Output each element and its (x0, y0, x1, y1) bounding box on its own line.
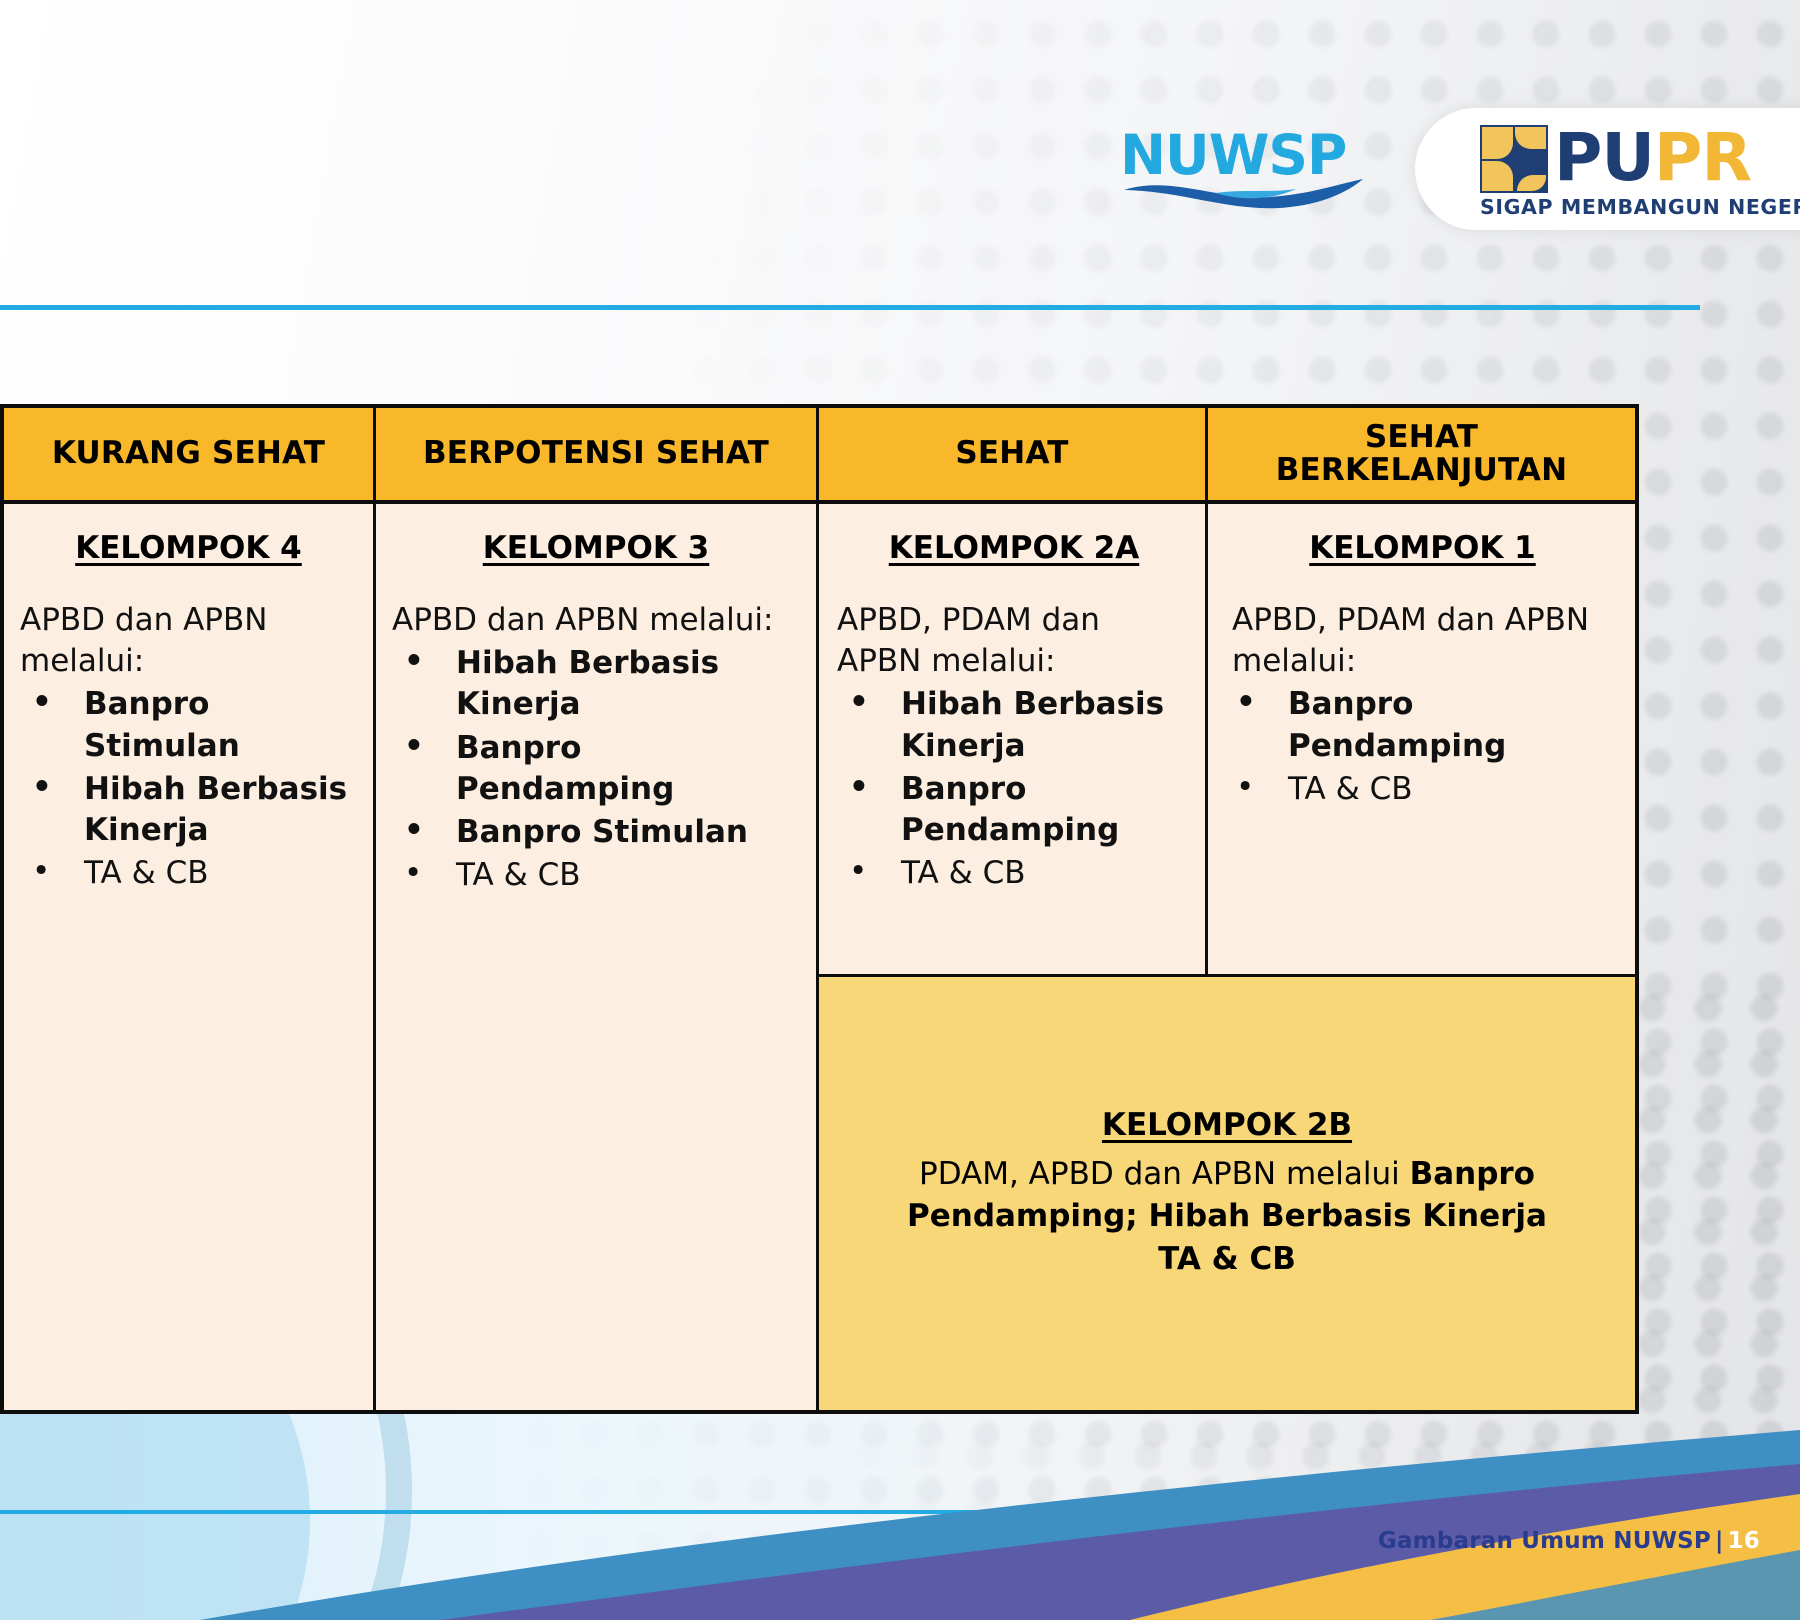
nuwsp-logo: NUWSP (1120, 128, 1370, 218)
list-item: TA & CB (837, 853, 1191, 894)
kelompok-4-intro: APBD dan APBN melalui: (20, 600, 357, 682)
health-category-table: KURANG SEHAT BERPOTENSI SEHAT SEHAT SEHA… (0, 404, 1639, 1414)
kelompok-1-intro: APBD, PDAM dan APBN melalui: (1224, 600, 1621, 682)
kelompok-2b-title: KELOMPOK 2B (1102, 1107, 1352, 1143)
list-item: Banpro Pendamping (837, 769, 1191, 851)
table-right-section: KELOMPOK 2A APBD, PDAM dan APBN melalui:… (819, 504, 1635, 1410)
pupr-emblem-icon (1480, 125, 1548, 193)
pupr-tagline: SIGAP MEMBANGUN NEGERI (1480, 195, 1800, 219)
pupr-wordmark-pu: PU (1554, 119, 1654, 196)
footer-wave-svg (0, 1430, 1800, 1620)
list-item: Hibah Berbasis Kinerja (837, 684, 1191, 766)
kelompok-1-bullet-list: Banpro Pendamping TA & CB (1224, 684, 1621, 810)
footer-decorative-waves (0, 1430, 1800, 1620)
kelompok-1-title: KELOMPOK 1 (1224, 530, 1621, 566)
table-body: KELOMPOK 4 APBD dan APBN melalui: Banpro… (4, 504, 1635, 1410)
pupr-logo: PUPR SIGAP MEMBANGUN NEGERI (1480, 125, 1800, 221)
table-cell-kelompok-3: KELOMPOK 3 APBD dan APBN melalui: Hibah … (376, 504, 819, 1410)
footer-label: Gambaran Umum NUWSP (1378, 1528, 1711, 1554)
kelompok-2a-intro: APBD, PDAM dan APBN melalui: (837, 600, 1191, 682)
page-number: 16 (1728, 1528, 1760, 1554)
footer-separator: | (1711, 1528, 1728, 1554)
pupr-wordmark-pr: PR (1654, 119, 1751, 196)
kelompok-2b-line-3: TA & CB (1158, 1238, 1296, 1280)
table-cell-kelompok-2b: KELOMPOK 2B PDAM, APBD dan APBN melalui … (819, 974, 1635, 1410)
list-item: Hibah Berbasis Kinerja (20, 769, 357, 851)
list-item: TA & CB (20, 853, 357, 894)
kelompok-2b-line-1: PDAM, APBD dan APBN melalui Banpro (919, 1153, 1535, 1195)
table-cell-kelompok-4: KELOMPOK 4 APBD dan APBN melalui: Banpro… (4, 504, 376, 1410)
kelompok-3-bullet-list: Hibah Berbasis Kinerja Banpro Pendamping… (392, 643, 800, 896)
kelompok-4-title: KELOMPOK 4 (20, 530, 357, 566)
list-item: Banpro Pendamping (392, 728, 800, 810)
list-item: Banpro Stimulan (392, 812, 800, 853)
kelompok-3-intro: APBD dan APBN melalui: (392, 600, 800, 641)
pupr-wordmark: PUPR (1554, 125, 1751, 191)
table-header-sehat: SEHAT (819, 408, 1208, 500)
list-item: Banpro Pendamping (1224, 684, 1621, 766)
list-item: Banpro Stimulan (20, 684, 357, 766)
footer-caption: Gambaran Umum NUWSP|16 (1378, 1528, 1760, 1554)
table-header-row: KURANG SEHAT BERPOTENSI SEHAT SEHAT SEHA… (4, 408, 1635, 504)
nuwsp-wordmark: NUWSP (1120, 128, 1370, 183)
kelompok-2b-line-1-bold: Banpro (1410, 1156, 1535, 1192)
kelompok-2a-title: KELOMPOK 2A (837, 530, 1191, 566)
kelompok-2b-line-1-plain: PDAM, APBD dan APBN melalui (919, 1156, 1410, 1192)
table-header-sehat-berkelanjutan: SEHAT BERKELANJUTAN (1208, 408, 1635, 500)
kelompok-2b-line-2: Pendamping; Hibah Berbasis Kinerja (907, 1195, 1547, 1237)
list-item: TA & CB (1224, 769, 1621, 810)
list-item: TA & CB (392, 855, 800, 896)
kelompok-4-bullet-list: Banpro Stimulan Hibah Berbasis Kinerja T… (20, 684, 357, 894)
kelompok-3-title: KELOMPOK 3 (392, 530, 800, 566)
table-cell-kelompok-2a: KELOMPOK 2A APBD, PDAM dan APBN melalui:… (819, 504, 1208, 974)
table-header-kurang-sehat: KURANG SEHAT (4, 408, 376, 500)
list-item: Hibah Berbasis Kinerja (392, 643, 800, 725)
kelompok-2a-bullet-list: Hibah Berbasis Kinerja Banpro Pendamping… (837, 684, 1191, 894)
slide-canvas: NUWSP PUPR SIGAP MEMBANGUN NEGERI KURANG… (0, 0, 1800, 1620)
table-header-berpotensi-sehat: BERPOTENSI SEHAT (376, 408, 819, 500)
table-cell-kelompok-1: KELOMPOK 1 APBD, PDAM dan APBN melalui: … (1208, 504, 1635, 974)
table-right-top-row: KELOMPOK 2A APBD, PDAM dan APBN melalui:… (819, 504, 1635, 974)
header-divider-rule (0, 305, 1700, 310)
